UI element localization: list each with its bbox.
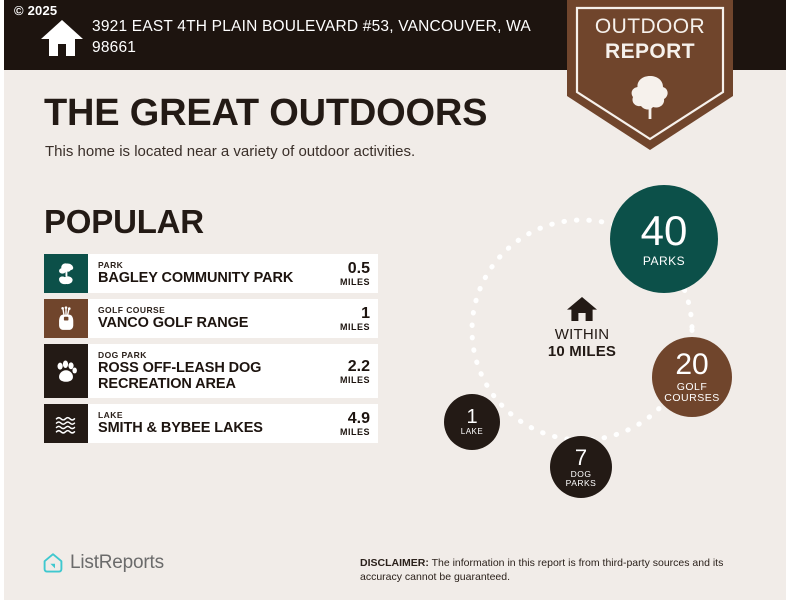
distance-unit: MILES [324,322,370,332]
home-icon [40,18,84,58]
list-item-body: DOG PARK ROSS OFF-LEASH DOG RECREATION A… [88,344,378,398]
list-item-distance: 4.9 MILES [318,410,370,437]
golf-courses-count: 20 [675,350,708,380]
footer: ListReports DISCLAIMER: The information … [4,538,786,600]
distance-unit: MILES [324,375,370,385]
distance-value: 0.5 [324,260,370,277]
parks-count: 40 [641,210,688,252]
distance-value: 4.9 [324,410,370,427]
center-label-line2: 10 MILES [526,343,638,360]
park-tree-icon [44,254,88,293]
report-page: © 2025 3921 EAST 4TH PLAIN BOULEVARD #53… [4,0,786,600]
popular-section-title: POPULAR [44,203,204,241]
disclaimer-label: DISCLAIMER: [360,557,429,569]
page-subtitle: This home is located near a variety of o… [45,143,415,160]
list-item[interactable]: DOG PARK ROSS OFF-LEASH DOG RECREATION A… [44,344,378,398]
list-item-body: GOLF COURSE VANCO GOLF RANGE 1 MILES [88,299,378,338]
lake-label: LAKE [461,428,483,436]
list-item-distance: 0.5 MILES [318,260,370,287]
listreports-logo[interactable]: ListReports [42,552,164,574]
distance-value: 1 [324,305,370,322]
outdoor-report-badge: OUTDOOR REPORT [567,0,733,150]
badge-label-line1: OUTDOOR [567,14,733,39]
list-item-name: ROSS OFF-LEASH DOG RECREATION AREA [98,361,318,392]
listreports-logo-text: ListReports [70,552,164,574]
center-label-line1: WITHIN [526,326,638,343]
dog-parks-label-line2: PARKS [566,479,597,488]
list-item-name: BAGLEY COMMUNITY PARK [98,271,318,287]
disclaimer: DISCLAIMER: The information in this repo… [360,556,760,584]
list-item-text: PARK BAGLEY COMMUNITY PARK [98,260,318,287]
stat-bubble-golf-courses[interactable]: 20 GOLF COURSES [652,337,732,417]
proximity-diagram: 40 PARKS 20 GOLF COURSES 7 DOG PARKS 1 L… [402,170,786,530]
distance-unit: MILES [324,427,370,437]
list-item[interactable]: GOLF COURSE VANCO GOLF RANGE 1 MILES [44,299,378,338]
list-item-name: SMITH & BYBEE LAKES [98,421,318,437]
list-item-text: LAKE SMITH & BYBEE LAKES [98,410,318,437]
home-icon [566,296,598,322]
property-address: 3921 EAST 4TH PLAIN BOULEVARD #53, VANCO… [92,16,552,58]
stat-bubble-lake[interactable]: 1 LAKE [444,394,500,450]
golf-bag-icon [44,299,88,338]
distance-unit: MILES [324,277,370,287]
list-item[interactable]: LAKE SMITH & BYBEE LAKES 4.9 MILES [44,404,378,443]
golf-courses-label-line2: COURSES [664,393,719,404]
list-item-text: DOG PARK ROSS OFF-LEASH DOG RECREATION A… [98,350,318,392]
distance-value: 2.2 [324,358,370,375]
lake-count: 1 [466,407,477,427]
diagram-center-label: WITHIN 10 MILES [526,296,638,360]
list-item-distance: 2.2 MILES [318,358,370,385]
list-item-body: PARK BAGLEY COMMUNITY PARK 0.5 MILES [88,254,378,293]
tree-icon [628,74,672,120]
list-item-text: GOLF COURSE VANCO GOLF RANGE [98,305,318,332]
badge-label-line2: REPORT [567,39,733,64]
listreports-house-icon [42,552,64,574]
dog-parks-count: 7 [575,447,587,469]
list-item-name: VANCO GOLF RANGE [98,316,318,332]
copyright-label: © 2025 [14,4,57,17]
page-title: THE GREAT OUTDOORS [44,92,487,135]
popular-list: PARK BAGLEY COMMUNITY PARK 0.5 MILES [44,254,378,449]
stat-bubble-dog-parks[interactable]: 7 DOG PARKS [550,436,612,498]
list-item-distance: 1 MILES [318,305,370,332]
badge-label: OUTDOOR REPORT [567,14,733,64]
list-item[interactable]: PARK BAGLEY COMMUNITY PARK 0.5 MILES [44,254,378,293]
paw-print-icon [44,344,88,398]
stat-bubble-parks[interactable]: 40 PARKS [610,185,718,293]
list-item-body: LAKE SMITH & BYBEE LAKES 4.9 MILES [88,404,378,443]
water-waves-icon [44,404,88,443]
parks-label: PARKS [643,255,685,268]
